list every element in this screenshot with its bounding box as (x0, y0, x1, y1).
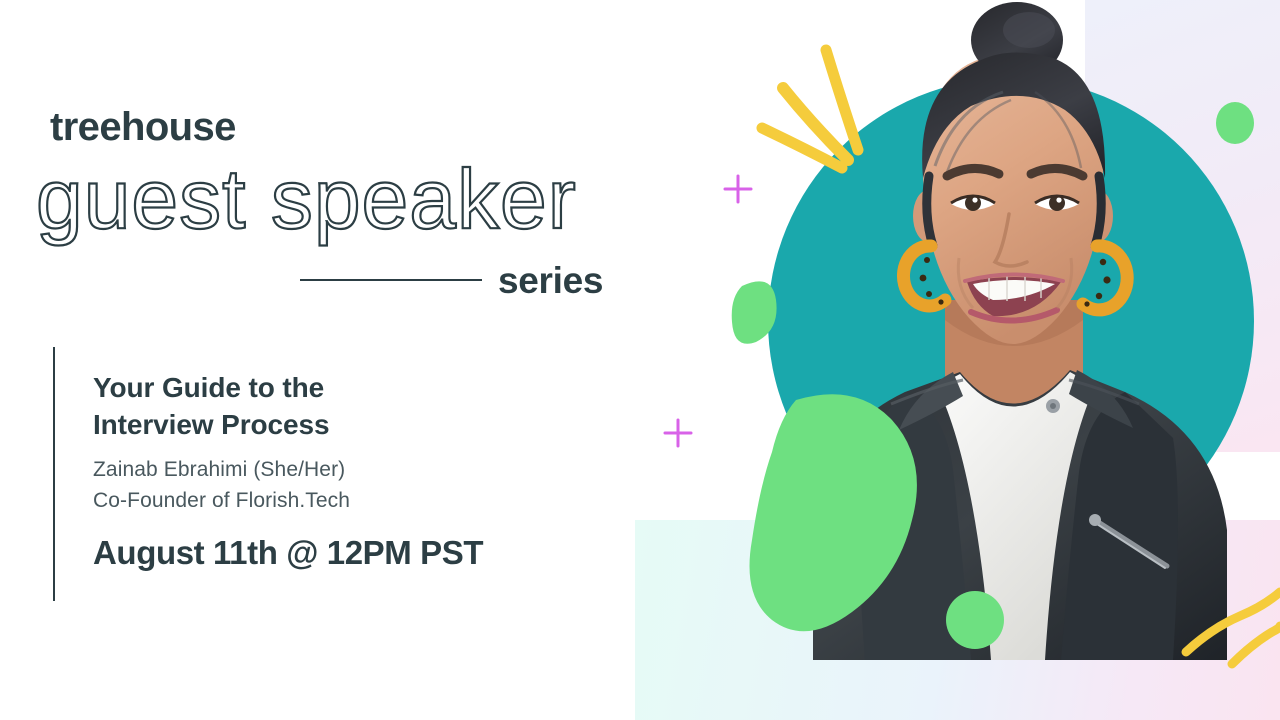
treehouse-wordmark: treehouse (50, 107, 236, 147)
series-label: series (498, 262, 603, 299)
headline-text: guest speaker (36, 158, 577, 246)
series-divider-rule (300, 279, 482, 281)
speaker-role: Co-Founder of Florish.Tech (93, 486, 483, 516)
speaker-portrait (795, 0, 1235, 660)
magenta-plus-top (725, 176, 751, 202)
talk-title-line-2: Interview Process (93, 406, 483, 443)
series-row: series (300, 258, 630, 302)
headline-guest-speaker: guest speaker (36, 158, 676, 248)
magenta-plus-bottom (665, 420, 691, 446)
magenta-plus-marks (665, 176, 751, 446)
event-datetime: August 11th @ 12PM PST (93, 516, 483, 569)
event-detail-block: Your Guide to the Interview Process Zain… (53, 347, 483, 601)
talk-title-line-1: Your Guide to the (93, 347, 483, 406)
guest-speaker-promo-slide: treehouse guest speaker series Your Guid… (0, 0, 1280, 720)
speaker-name: Zainab Ebrahimi (She/Her) (93, 443, 483, 485)
